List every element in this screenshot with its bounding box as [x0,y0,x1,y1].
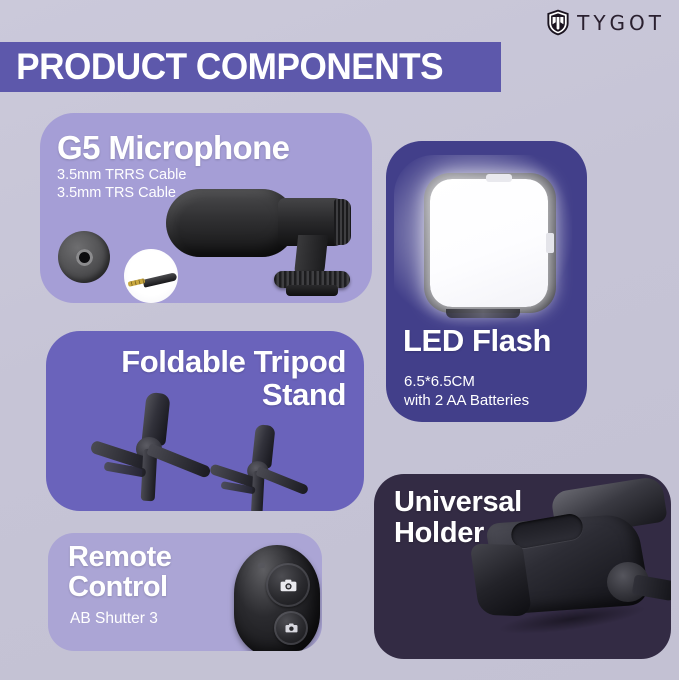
card-remote-control: Remote Control AB Shutter 3 [48,533,322,651]
universal-holder-image [457,482,671,654]
tygot-shield-icon [546,9,570,36]
card-remote-control-title: Remote Control [68,542,171,603]
remote-secondary-button-icon [274,611,308,645]
tripod-image-large [98,393,218,503]
tripod-image-small [216,425,314,511]
card-led-flash: LED Flash 6.5*6.5CM with 2 AA Batteries [386,141,587,422]
remote-control-image [226,539,322,651]
header-banner: PRODUCT COMPONENTS [0,42,501,92]
led-flash-image [408,167,568,322]
card-universal-holder: Universal Holder [374,474,671,659]
brand-name: TYGOT [577,13,665,33]
remote-camera-button-icon [266,563,310,607]
microphone-socket-icon [58,231,110,283]
infographic-page: TYGOT PRODUCT COMPONENTS G5 Microphone 3… [0,0,679,680]
card-remote-control-subtitle: AB Shutter 3 [70,610,158,629]
card-microphone: G5 Microphone 3.5mm TRRS Cable 3.5mm TRS… [40,113,372,303]
card-led-flash-subtitle: 6.5*6.5CM with 2 AA Batteries [404,373,529,410]
brand-logo: TYGOT [546,9,665,36]
card-tripod: Foldable Tripod Stand [46,331,364,511]
card-led-flash-title: LED Flash [403,325,551,356]
page-title: PRODUCT COMPONENTS [0,46,443,88]
card-microphone-title: G5 Microphone [40,113,372,164]
microphone-image [128,167,372,303]
